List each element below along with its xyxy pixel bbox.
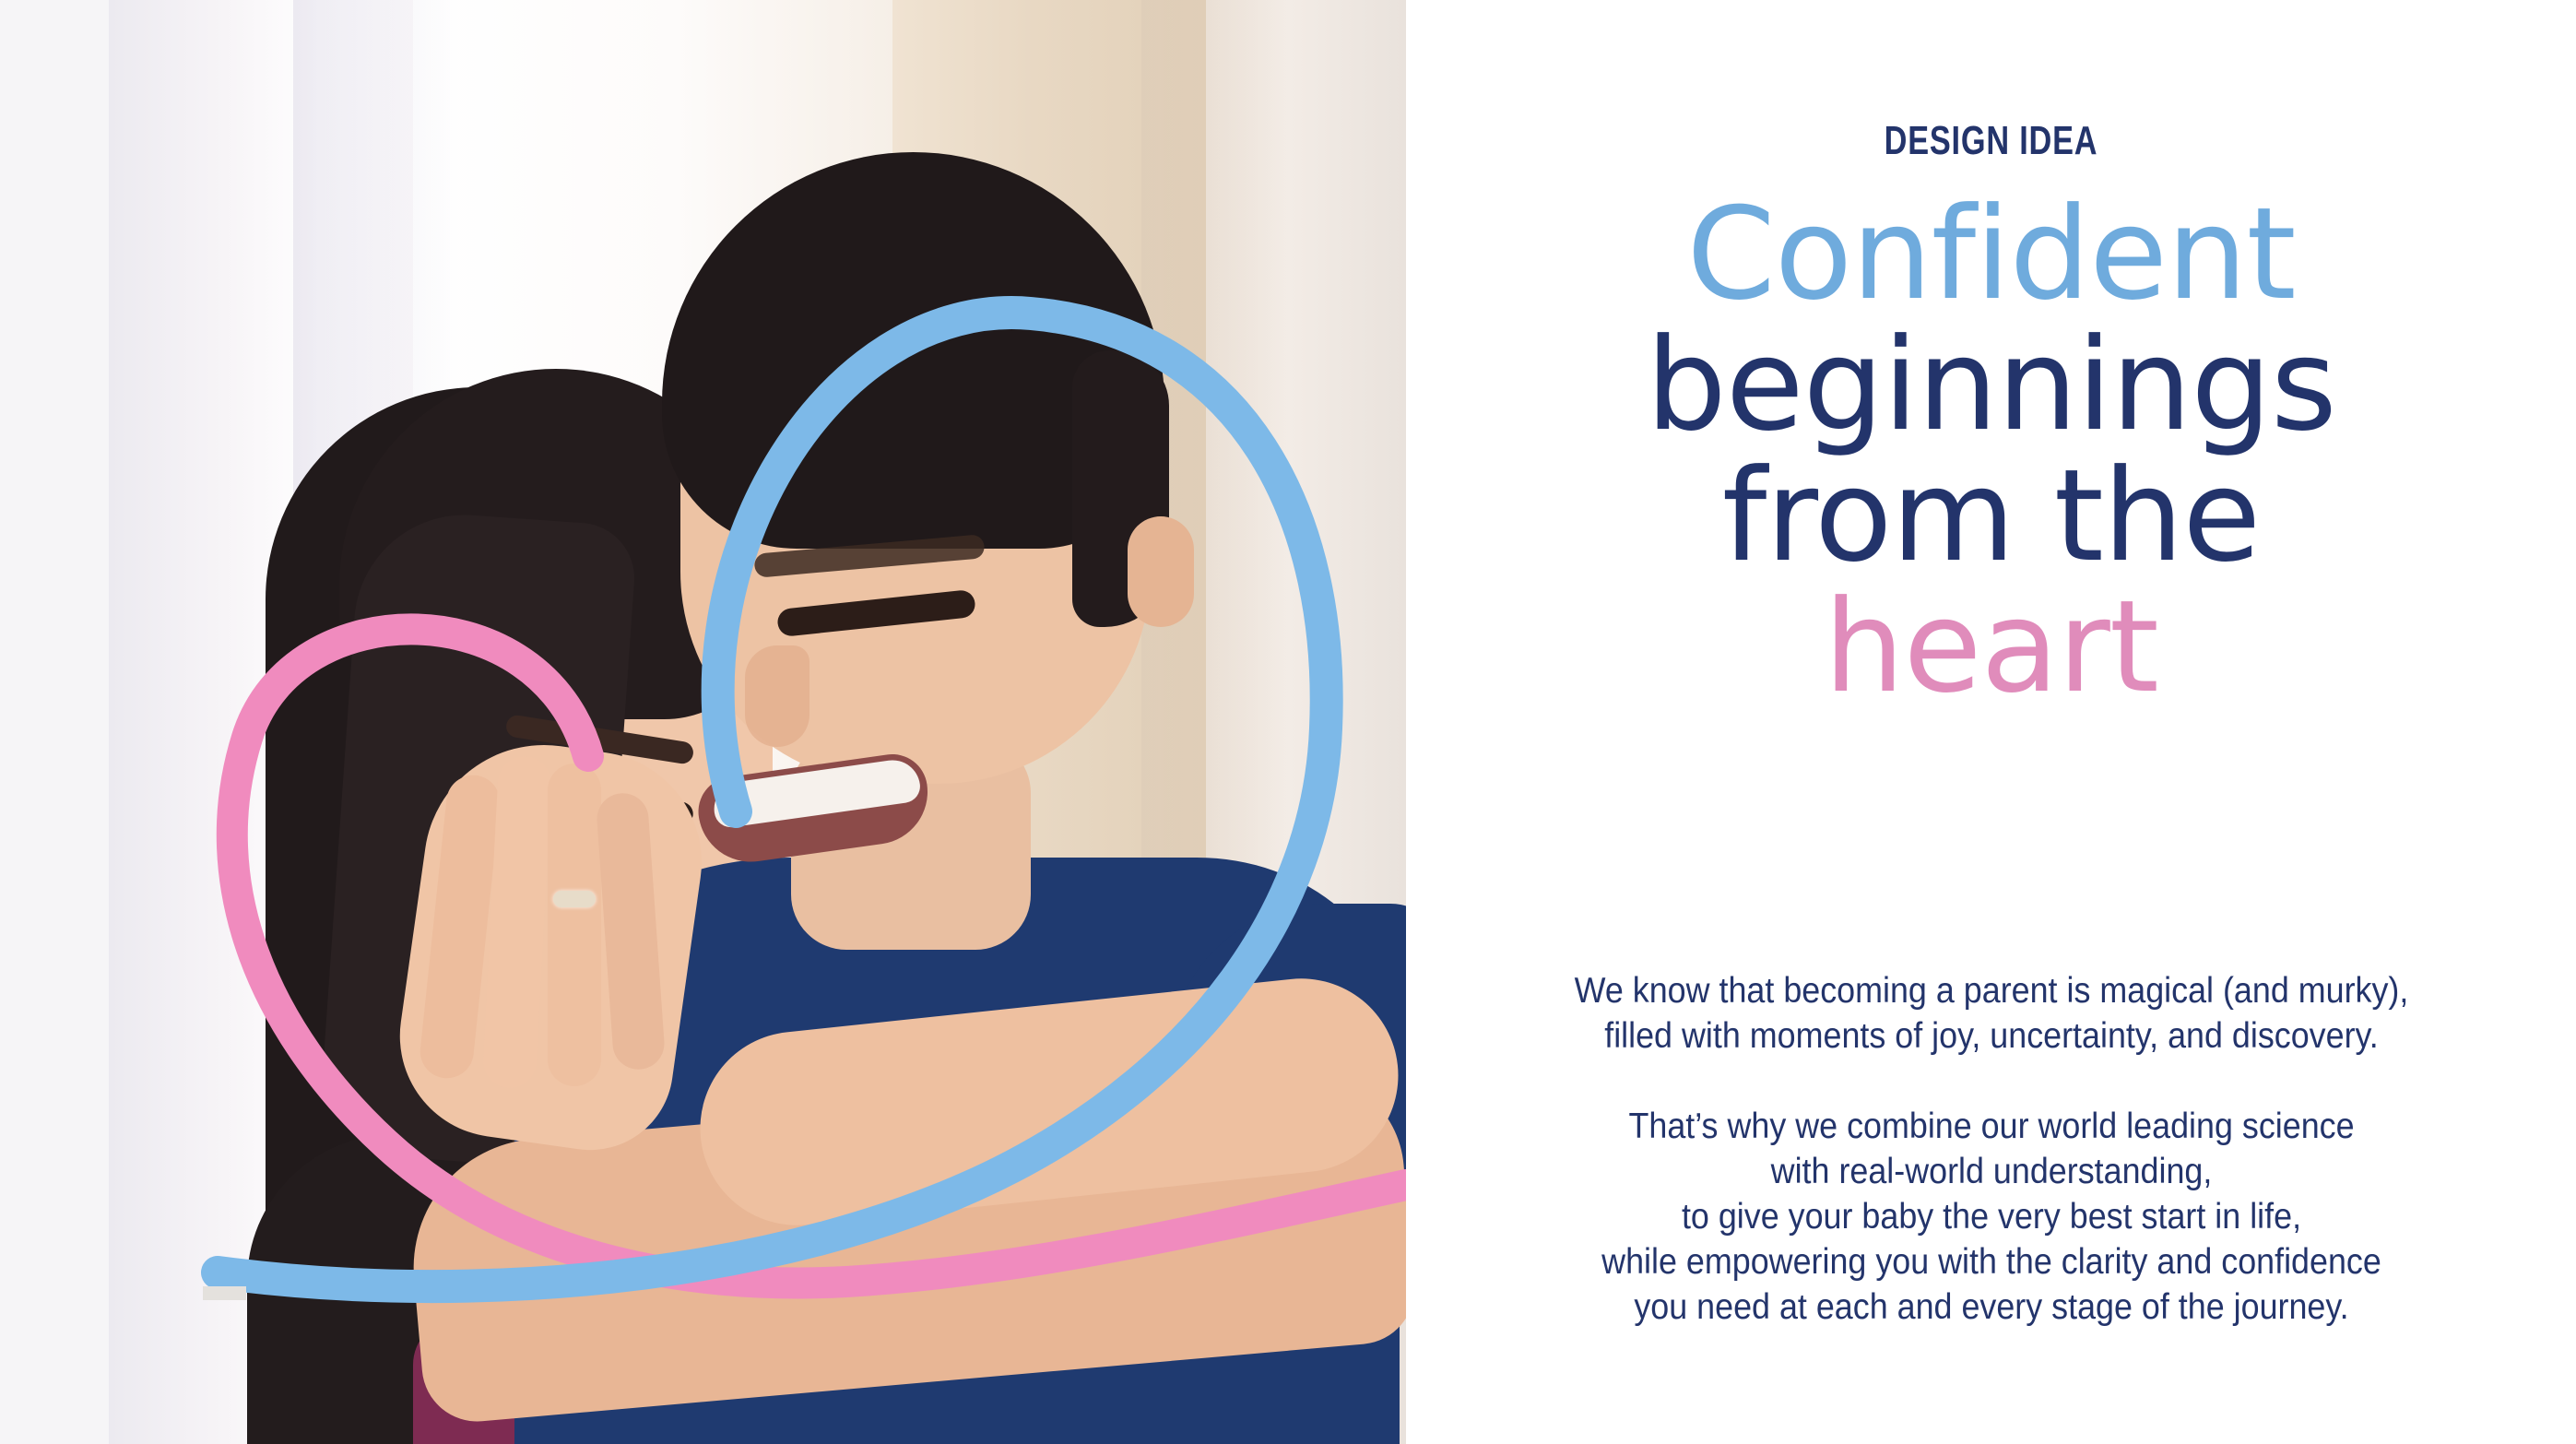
body-copy: We know that becoming a parent is magica… (1461, 968, 2522, 1330)
slide-canvas: DESIGN IDEA Confident beginnings from th… (0, 0, 2576, 1444)
paragraph-2-line-1: That’s why we combine our world leading … (1504, 1104, 2479, 1149)
heart-ribbon-overlay (109, 0, 1406, 1444)
headline-line-3: from the (1406, 451, 2576, 582)
text-panel: DESIGN IDEA Confident beginnings from th… (1406, 0, 2576, 1444)
paragraph-1-line-2: filled with moments of joy, uncertainty,… (1504, 1013, 2479, 1059)
paragraph-2-line-5: you need at each and every stage of the … (1504, 1284, 2479, 1330)
paragraph-spacer (1461, 1059, 2522, 1104)
paragraph-2-line-3: to give your baby the very best start in… (1504, 1194, 2479, 1239)
eyebrow-label: DESIGN IDEA (1535, 118, 2448, 164)
headline-line-2: beginnings (1406, 320, 2576, 451)
headline-line-1: Confident (1406, 189, 2576, 320)
headline-line-4: heart (1406, 582, 2576, 713)
paragraph-2-line-4: while empowering you with the clarity an… (1504, 1239, 2479, 1284)
paragraph-1-line-1: We know that becoming a parent is magica… (1504, 968, 2479, 1013)
paragraph-2-line-2: with real-world understanding, (1504, 1149, 2479, 1194)
grey-artifact-rectangle (203, 1286, 246, 1300)
left-gutter (0, 0, 109, 1444)
page-title: Confident beginnings from the heart (1406, 189, 2576, 714)
pink-heart-icon (232, 629, 1406, 1283)
couple-photo (109, 0, 1406, 1444)
